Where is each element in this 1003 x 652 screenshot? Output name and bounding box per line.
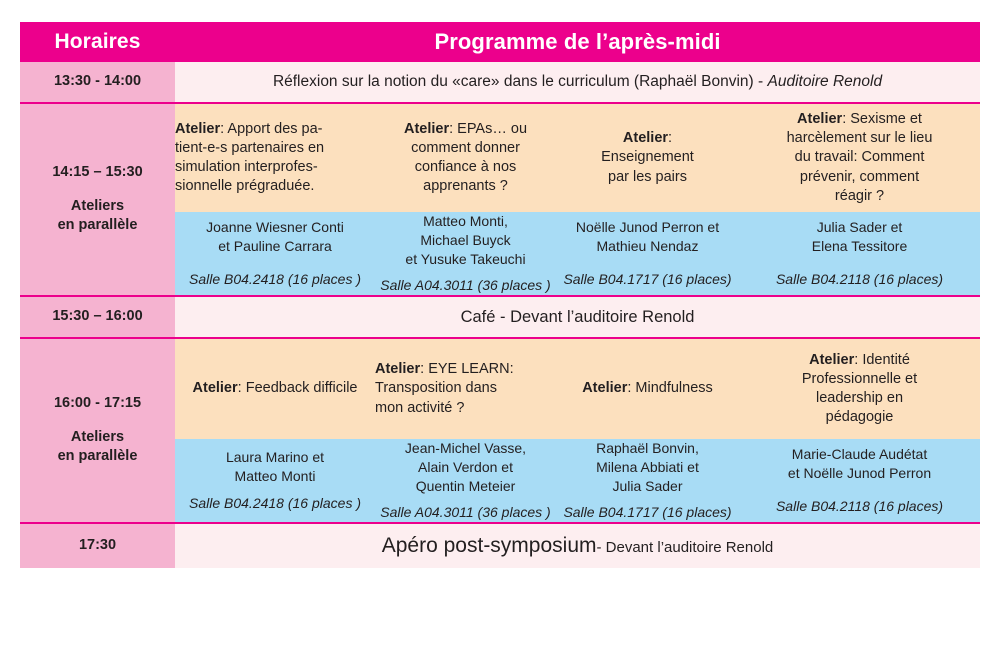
time-apero: 17:30 xyxy=(20,523,175,568)
table-header-row: Horaires Programme de l’après-midi xyxy=(20,22,980,62)
workshop-title-1-3[interactable]: Atelier: Enseignement par les pairs xyxy=(556,103,739,212)
presenter-names: Joanne Wiesner Conti et Pauline Carrara xyxy=(206,219,344,254)
time-block2-sub-line2: en parallèle xyxy=(58,448,138,464)
workshop-title-text: : Feedback difficile xyxy=(238,380,358,396)
workshop-label: Atelier xyxy=(404,121,449,137)
workshop-presenters-2-3: Raphaël Bonvin, Milena Abbiati et Julia … xyxy=(556,439,739,523)
header-programme: Programme de l’après-midi xyxy=(175,22,980,62)
workshop-title-2-3[interactable]: Atelier: Mindfulness xyxy=(556,338,739,439)
workshop-title-1-4[interactable]: Atelier: Sexisme et harcèlement sur le l… xyxy=(739,103,980,212)
time-block1-range: 14:15 – 15:30 xyxy=(52,164,142,180)
time-block1-sub-line2: en parallèle xyxy=(58,217,138,233)
row-apero: 17:30 Apéro post-symposium- Devant l’aud… xyxy=(20,523,980,568)
plenary-text: Réflexion sur la notion du «care» dans l… xyxy=(273,73,768,90)
room-label: Salle B04.2418 (16 places ) xyxy=(175,494,375,513)
time-block1-sub: Ateliers en parallèle xyxy=(20,197,175,236)
workshop-presenters-2-1: Laura Marino et Matteo Monti Salle B04.2… xyxy=(175,439,375,523)
presenter-names: Matteo Monti, Michael Buyck et Yusuke Ta… xyxy=(405,213,525,267)
room-label: Salle B04.1717 (16 places) xyxy=(556,270,739,289)
time-break: 15:30 – 16:00 xyxy=(20,296,175,338)
presenter-names: Raphaël Bonvin, Milena Abbiati et Julia … xyxy=(596,440,699,494)
workshop-label: Atelier xyxy=(375,361,420,377)
workshop-label: Atelier xyxy=(809,352,854,368)
workshop-title-1-1[interactable]: Atelier: Apport des pa- tient-e-s parten… xyxy=(175,103,375,212)
room-label: Salle B04.2118 (16 places) xyxy=(739,270,980,289)
presenter-names: Marie-Claude Audétat et Noëlle Junod Per… xyxy=(788,446,931,481)
apero-cell: Apéro post-symposium- Devant l’auditoire… xyxy=(175,523,980,568)
room-label: Salle B04.1717 (16 places) xyxy=(556,503,739,522)
coffee-break-cell: Café - Devant l’auditoire Renold xyxy=(175,296,980,338)
row-block2-titles: 16:00 - 17:15 Ateliers en parallèle Atel… xyxy=(20,338,980,439)
header-horaires: Horaires xyxy=(20,22,175,62)
workshop-label: Atelier xyxy=(193,380,238,396)
presenter-names: Jean-Michel Vasse, Alain Verdon et Quent… xyxy=(405,440,526,494)
time-plenary: 13:30 - 14:00 xyxy=(20,62,175,103)
workshop-label: Atelier xyxy=(582,380,627,396)
room-label: Salle B04.2118 (16 places) xyxy=(739,497,980,516)
presenter-names: Laura Marino et Matteo Monti xyxy=(226,449,324,484)
time-block2-range: 16:00 - 17:15 xyxy=(54,395,141,411)
time-block2-sub: Ateliers en parallèle xyxy=(20,428,175,467)
time-block1-sub-line1: Ateliers xyxy=(71,198,124,214)
apero-location: - Devant l’auditoire Renold xyxy=(597,539,774,556)
apero-title: Apéro post-symposium xyxy=(382,534,597,557)
workshop-presenters-1-1: Joanne Wiesner Conti et Pauline Carrara … xyxy=(175,212,375,296)
afternoon-programme-table: Horaires Programme de l’après-midi 13:30… xyxy=(20,22,980,568)
plenary-session-cell: Réflexion sur la notion du «care» dans l… xyxy=(175,62,980,103)
row-block1-titles: 14:15 – 15:30 Ateliers en parallèle Atel… xyxy=(20,103,980,212)
workshop-label: Atelier xyxy=(797,111,842,127)
presenter-names: Julia Sader et Elena Tessitore xyxy=(812,219,907,254)
schedule-page: Horaires Programme de l’après-midi 13:30… xyxy=(0,0,1003,652)
room-label: Salle A04.3011 (36 places ) xyxy=(375,276,556,295)
workshop-presenters-1-2: Matteo Monti, Michael Buyck et Yusuke Ta… xyxy=(375,212,556,296)
workshop-title-1-2[interactable]: Atelier: EPAs… ou comment donner confian… xyxy=(375,103,556,212)
time-block2: 16:00 - 17:15 Ateliers en parallèle xyxy=(20,338,175,523)
workshop-presenters-1-3: Noëlle Junod Perron et Mathieu Nendaz Sa… xyxy=(556,212,739,296)
workshop-title-text: : Mindfulness xyxy=(627,380,712,396)
room-label: Salle B04.2418 (16 places ) xyxy=(175,270,375,289)
row-coffee-break: 15:30 – 16:00 Café - Devant l’auditoire … xyxy=(20,296,980,338)
room-label: Salle A04.3011 (36 places ) xyxy=(375,503,556,522)
workshop-title-2-1[interactable]: Atelier: Feedback difficile xyxy=(175,338,375,439)
time-block1: 14:15 – 15:30 Ateliers en parallèle xyxy=(20,103,175,296)
plenary-location: Auditoire Renold xyxy=(767,73,882,90)
workshop-presenters-2-2: Jean-Michel Vasse, Alain Verdon et Quent… xyxy=(375,439,556,523)
presenter-names: Noëlle Junod Perron et Mathieu Nendaz xyxy=(576,219,719,254)
row-plenary: 13:30 - 14:00 Réflexion sur la notion du… xyxy=(20,62,980,103)
workshop-title-2-2[interactable]: Atelier: EYE LEARN: Transposition dans m… xyxy=(375,338,556,439)
time-block2-sub-line1: Ateliers xyxy=(71,429,124,445)
workshop-presenters-1-4: Julia Sader et Elena Tessitore Salle B04… xyxy=(739,212,980,296)
workshop-label: Atelier xyxy=(623,130,668,146)
workshop-label: Atelier xyxy=(175,121,220,137)
workshop-title-2-4[interactable]: Atelier: Identité Professionnelle et lea… xyxy=(739,338,980,439)
workshop-presenters-2-4: Marie-Claude Audétat et Noëlle Junod Per… xyxy=(739,439,980,523)
